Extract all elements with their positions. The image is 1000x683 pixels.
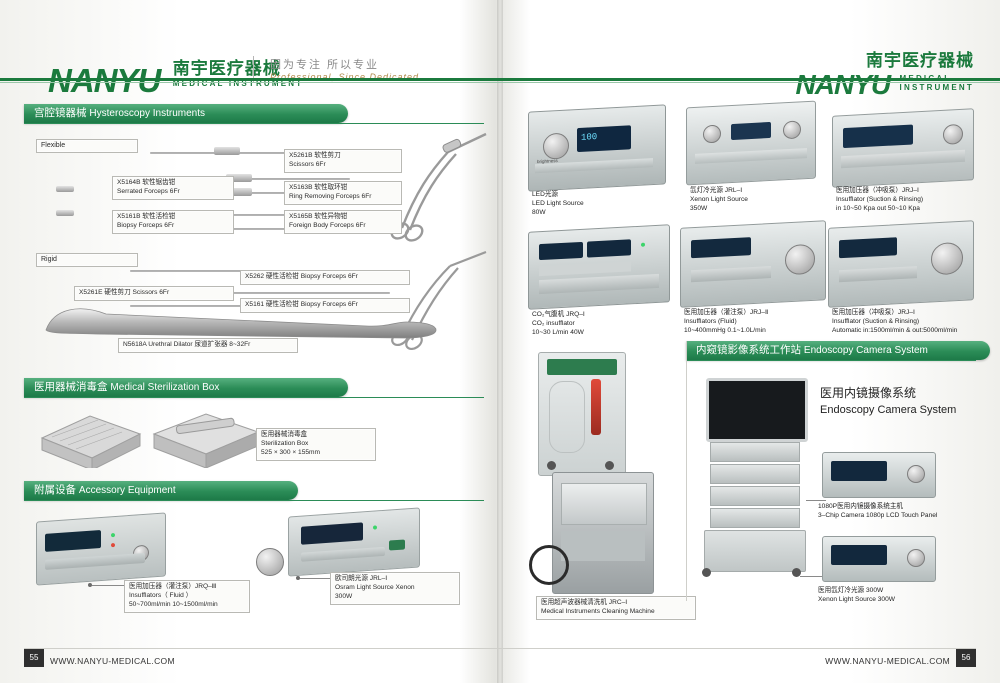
catalog-page: NANYU 南宇医疗器械 MEDICAL INSTRUMENT 因为专注 所以专… (0, 0, 1000, 683)
instrument-label: X5261E 硬性剪刀 Scissors 6Fr (74, 286, 234, 301)
section-title-hysteroscopy: 宫腔镜器械 Hysteroscopy Instruments (24, 104, 348, 123)
page-footer: 55 WWW.NANYU-MEDICAL.COM 56 WWW.NANYU-ME… (0, 649, 1000, 683)
instrument-label-en: 8~32Fr (229, 341, 250, 348)
right-device-caption-3: 医用加压器（冲吸泵）JRJ–Ⅰ Insufflator (Suction & R… (836, 186, 923, 214)
caption-cn: 氙灯冷光源 JRL–Ⅰ (690, 186, 748, 195)
accessory-label-2-spec: 300W (335, 593, 455, 602)
device-screen (691, 237, 751, 258)
brand-logo-right: 南宇医疗器械 NANYU MEDICAL INSTRUMENT (796, 52, 974, 99)
section-title-hysteroscopy-cn: 宫腔镜器械 (34, 107, 87, 119)
device-panel-strip (539, 261, 631, 276)
camera-host-caption-cn: 1080P医用内镜摄像系统主机 (818, 502, 937, 511)
sterilization-box-1 (36, 408, 146, 468)
device-pump-head (931, 242, 963, 276)
endoscopy-trolley (700, 378, 810, 588)
page-number-left-bg: 55 (24, 649, 44, 667)
caster-wheel (702, 568, 711, 577)
device-knob (703, 125, 721, 144)
trolley-device-2 (710, 464, 800, 484)
cleaning-caption-en: Medical Instruments Cleaning Machine (541, 608, 691, 617)
device-slot (45, 553, 145, 570)
device-pump-head (785, 244, 815, 276)
status-led-red (111, 543, 115, 547)
instrument-tip (56, 210, 74, 216)
accessory-label-2: 欧司朗光源 JRL–Ⅰ Osram Light Source Xenon 300… (330, 572, 460, 605)
device-insufflator-fluid-photo (680, 220, 826, 308)
section-underline-2 (24, 397, 484, 398)
device-screen-digits: 100 (581, 132, 597, 143)
section-underline-1 (24, 123, 484, 124)
light-guide-connector (256, 548, 284, 576)
caption-en: Insufflator (Suction & Rinsing) (836, 195, 923, 204)
device-knob (907, 549, 925, 567)
xenon-caption-en: Xenon Light Source 300W (818, 595, 895, 604)
caption-cn: 医用加压器（冲吸泵）JRJ–Ⅰ (832, 308, 957, 317)
page-number-right: 56 (956, 649, 976, 667)
device-knob (783, 120, 801, 139)
device-insufflator-auto-photo (828, 220, 974, 308)
device-xenon-photo (288, 507, 420, 576)
device-xenon-300w-photo (822, 536, 936, 582)
device-green-panel (547, 359, 617, 375)
handpiece (591, 379, 601, 435)
section-title-camera-en: Endoscopy Camera System (804, 345, 928, 356)
device-camera-host-photo (822, 452, 936, 498)
instrument-label-en: Serrated Forceps 6Fr (117, 188, 229, 197)
accessory-label-1-en: Insufflators（ Fluid ） (129, 592, 245, 601)
instrument-label-cn: X5261E 硬性剪刀 (79, 289, 131, 296)
section-title-sterilization-cn: 医用器械消毒盒 (34, 381, 108, 393)
cleaning-machine-caption: 医用超声波器械清洗机 JRC–Ⅰ Medical Instruments Cle… (536, 596, 696, 620)
instrument-label-en: Biopsy Forceps 6Fr (301, 273, 358, 280)
trolley-device-4 (710, 508, 800, 528)
device-button (389, 539, 405, 550)
section-title-accessory: 附属设备 Accessory Equipment (24, 481, 298, 500)
brand-right-en2: INSTRUMENT (900, 84, 974, 92)
caption-en: LED Light Source (532, 199, 584, 208)
instrument-label: X5163B 软性取环钳 Ring Removing Forceps 6Fr (284, 181, 402, 205)
cleaner-body (561, 531, 645, 561)
coiled-hose (549, 381, 585, 453)
section-title-hysteroscopy-en: Hysteroscopy Instruments (89, 108, 205, 119)
instrument-label-en: Foreign Body Forceps 6Fr (289, 222, 397, 231)
caption-spec: 10~30 L/min 40W (532, 328, 585, 337)
device-panel-strip (695, 148, 807, 164)
trolley-device-3 (710, 486, 800, 506)
device-screen: 100 (577, 125, 631, 152)
device-co2-insufflator-photo (528, 224, 670, 309)
sterilization-box-2 (146, 408, 266, 468)
instrument-label-cn: X5164B 软性锯齿钳 (117, 179, 229, 188)
page-number-left: 55 (24, 649, 44, 667)
instrument-label-cn: X5165B 软性异物钳 (289, 213, 397, 222)
camera-system-title: 医用内镜摄像系统 Endoscopy Camera System (820, 384, 956, 419)
device-panel-strip (841, 150, 965, 168)
section-title-camera-system: 内窥镜影像系统工作站 Endoscopy Camera System (686, 341, 990, 360)
leader-dot (296, 576, 300, 580)
instrument-tip (56, 186, 74, 192)
status-led-green (111, 533, 115, 537)
xenon-300w-caption: 医用氙灯冷光源 300W Xenon Light Source 300W (818, 586, 895, 604)
page-number-right-bg: 56 (956, 649, 976, 667)
camera-host-caption-en: 3–Chip Camera 1080p LCD Touch Panel (818, 511, 937, 520)
power-cable (529, 545, 569, 585)
group-label-flexible: Flexible (36, 139, 138, 153)
camera-system-title-en: Endoscopy Camera System (820, 402, 956, 419)
instrument-tip (214, 147, 240, 155)
camera-panel-left-border (686, 341, 687, 601)
footer-url-left: WWW.NANYU-MEDICAL.COM (50, 656, 175, 666)
instrument-label-cn: X5161B 软性活检钳 (117, 213, 229, 222)
instrument-label-en: Scissors 6Fr (133, 289, 170, 296)
instrument-label-text: X5261E 硬性剪刀 Scissors 6Fr (79, 289, 229, 298)
sterilization-box-caption: 医用器械消毒盒 Sterilization Box 525 × 300 × 15… (256, 428, 376, 461)
device-screen (731, 122, 771, 140)
device-insufflator-photo (36, 512, 166, 585)
status-led-green (373, 525, 377, 529)
section-title-camera-cn: 内窥镜影像系统工作站 (696, 344, 801, 356)
right-device-caption-1: LED光源 LED Light Source 80W (532, 190, 584, 218)
header-rule-thin (0, 82, 1000, 83)
caption-en: Xenon Light Source (690, 195, 748, 204)
camera-system-title-cn: 医用内镜摄像系统 (820, 384, 956, 402)
cleaner-lid (561, 483, 647, 525)
trolley-monitor (706, 378, 808, 442)
right-device-caption-2: 氙灯冷光源 JRL–Ⅰ Xenon Light Source 350W (690, 186, 748, 214)
device-screen-caption: brightness (537, 158, 558, 164)
xenon-caption-cn: 医用氙灯冷光源 300W (818, 586, 895, 595)
device-xenon-light-source-photo (686, 101, 816, 186)
device-slot (301, 547, 385, 562)
caption-cn: 医用加压器（冲吸泵）JRJ–Ⅰ (836, 186, 923, 195)
leader-line (806, 500, 826, 501)
caption-en: Insufflators (Fluid) (684, 317, 768, 326)
caption-cn: 医用加压器（灌注泵）JRJ–Ⅱ (684, 308, 768, 317)
status-led-green (641, 243, 645, 247)
brand-logo-left: NANYU 南宇医疗器械 MEDICAL INSTRUMENT (48, 54, 303, 100)
device-screen (831, 545, 887, 565)
accessory-label-2-en: Osram Light Source Xenon (335, 584, 455, 593)
group-label-rigid: Rigid (36, 253, 138, 267)
accessory-label-1: 医用加压器（灌注泵）JRQ–Ⅲ Insufflators（ Fluid ） 50… (124, 580, 250, 613)
caption-spec: 350W (690, 204, 748, 213)
instrument-label: X5164B 软性锯齿钳 Serrated Forceps 6Fr (112, 176, 234, 200)
leader-line (800, 576, 822, 577)
sterilization-caption-en: Sterilization Box (261, 440, 371, 449)
camera-host-caption: 1080P医用内镜摄像系统主机 3–Chip Camera 1080p LCD … (818, 502, 937, 520)
device-screen (831, 461, 887, 481)
device-insufflator-suction-photo (832, 108, 974, 187)
caption-spec: 10~400mmHg 0.1~1.0L/min (684, 326, 768, 335)
instrument-label-en: Biopsy Forceps 6Fr (117, 222, 229, 231)
device-knob (943, 124, 963, 145)
footer-rule (24, 648, 976, 649)
device-screen (843, 124, 913, 148)
leader-dot (88, 583, 92, 587)
device-screen (301, 522, 363, 544)
device-panel-strip (691, 266, 771, 282)
section-title-accessory-en: Accessory Equipment (79, 485, 176, 496)
caster-wheel (605, 461, 614, 470)
accessory-label-1-cn: 医用加压器（灌注泵）JRQ–Ⅲ (129, 583, 245, 592)
device-ultrasonic-cleaner-photo (552, 472, 654, 594)
instrument-label: X5262 硬性活检钳 Biopsy Forceps 6Fr (240, 270, 410, 285)
caption-cn: CO₂气腹机 JRQ–Ⅰ (532, 310, 585, 319)
accessory-label-1-spec: 50~700ml/min 10~1500ml/min (129, 601, 245, 610)
instrument-label: X5165B 软性异物钳 Foreign Body Forceps 6Fr (284, 210, 402, 234)
section-underline-4 (686, 360, 976, 361)
brand-right-cn: 南宇医疗器械 (796, 52, 974, 70)
device-knob (907, 465, 925, 483)
device-screen (587, 239, 631, 257)
caster-wheel (547, 461, 556, 470)
accessory-label-2-cn: 欧司朗光源 JRL–Ⅰ (335, 575, 455, 584)
instrument-label: X5261B 软性剪刀 Scissors 6Fr (284, 149, 402, 173)
instrument-label-en: Ring Removing Forceps 6Fr (289, 193, 397, 202)
right-device-caption-5: 医用加压器（灌注泵）JRJ–Ⅱ Insufflators (Fluid) 10~… (684, 308, 768, 336)
device-panel-strip (839, 266, 917, 282)
caption-spec: Automatic in:1500ml/min & out:5000ml/min (832, 326, 957, 335)
leader-line (300, 578, 330, 579)
forceps-illustration (390, 132, 500, 242)
caption-en: Insufflator (Suction & Rinsing) (832, 317, 957, 326)
device-screen (45, 530, 101, 552)
caption-spec: in 10~50 Kpa out 50~10 Kpa (836, 204, 923, 213)
instrument-label-dilator: N5618A Urethral Dilator 尿道扩张器 8~32Fr (118, 338, 298, 353)
sterilization-caption-cn: 医用器械消毒盒 (261, 431, 371, 440)
device-screen (539, 242, 583, 260)
caption-en: CO₂ insufflator (532, 319, 585, 328)
caption-spec: 80W (532, 208, 584, 217)
trolley-base (704, 530, 806, 572)
trolley-device-1 (710, 442, 800, 462)
section-underline-3 (24, 500, 484, 501)
slogan-cn: 因为专注 所以专业 (270, 56, 419, 72)
device-screen (839, 237, 897, 258)
instrument-label-cn: X5262 硬性活检钳 (245, 273, 299, 280)
instrument-label-cn: X5163B 软性取环钳 (289, 184, 397, 193)
section-title-accessory-cn: 附属设备 (34, 484, 76, 496)
section-title-sterilization-en: Medical Sterilization Box (110, 382, 219, 393)
right-device-caption-4: CO₂气腹机 JRQ–Ⅰ CO₂ insufflator 10~30 L/min… (532, 310, 585, 338)
right-device-caption-6: 医用加压器（冲吸泵）JRJ–Ⅰ Insufflator (Suction & R… (832, 308, 957, 336)
instrument-label-cn: X5261B 软性剪刀 (289, 152, 397, 161)
page-header: NANYU 南宇医疗器械 MEDICAL INSTRUMENT 因为专注 所以专… (0, 22, 1000, 70)
instrument-label-en: Scissors 6Fr (289, 161, 397, 170)
instrument-label: X5161B 软性活检钳 Biopsy Forceps 6Fr (112, 210, 234, 234)
brand-right-wordmark: NANYU (796, 69, 891, 100)
caption-cn: LED光源 (532, 190, 584, 199)
device-panel-strip (539, 274, 659, 294)
footer-url-right: WWW.NANYU-MEDICAL.COM (825, 656, 950, 666)
section-title-sterilization: 医用器械消毒盒 Medical Sterilization Box (24, 378, 348, 397)
device-led-light-source-photo: 100 brightness (528, 104, 666, 191)
cleaning-caption-cn: 医用超声波器械清洗机 JRC–Ⅰ (541, 599, 691, 608)
header-rule (0, 78, 1000, 81)
device-cleaning-cart-photo (538, 352, 626, 476)
instrument-label-cn: N5618A Urethral Dilator 尿道扩张器 (123, 341, 227, 348)
device-knob (543, 132, 569, 159)
sterilization-caption-size: 525 × 300 × 155mm (261, 449, 371, 458)
